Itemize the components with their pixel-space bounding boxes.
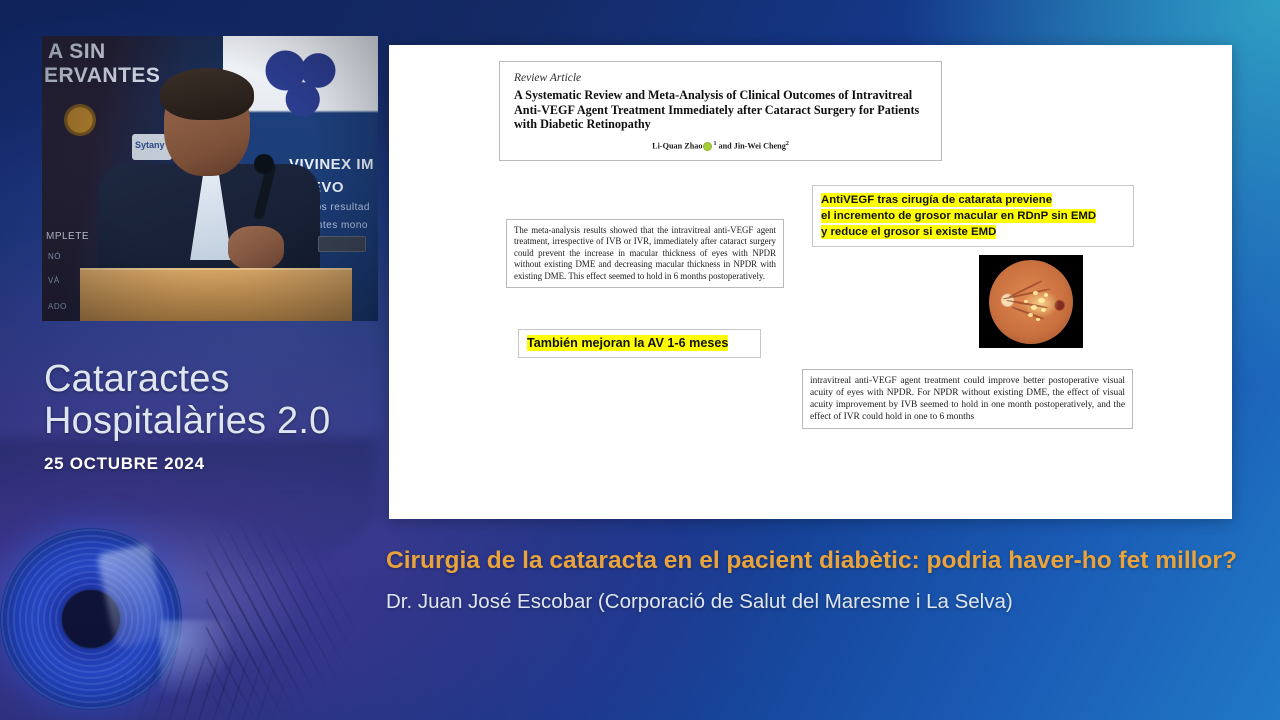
highlight-line-1: AntiVEGF tras cirugía de catarata previe… <box>821 193 1052 207</box>
highlight-box-top: AntiVEGF tras cirugía de catarata previe… <box>812 185 1134 247</box>
hard-exudate <box>1031 305 1037 310</box>
author-1-name: Li-Quan Zhao <box>652 141 702 150</box>
highlight-line-2: el incremento de grosor macular en RDnP … <box>821 209 1096 223</box>
event-title-block: Cataractes Hospitalàries 2.0 25 OCTUBRE … <box>44 358 330 474</box>
article-header-box: Review Article A Systematic Review and M… <box>499 61 942 161</box>
event-title-line1: Cataractes <box>44 358 330 400</box>
hard-exudate <box>1044 293 1048 297</box>
highlight-mid-text: También mejoran la AV 1-6 meses <box>527 335 728 351</box>
hard-exudate <box>1041 308 1046 312</box>
article-title: A Systematic Review and Meta-Analysis of… <box>514 88 927 132</box>
hard-exudate <box>1028 313 1033 317</box>
article-authors: Li-Quan Zhao1 and Jin-Wei Cheng2 <box>500 141 941 151</box>
talk-speaker: Dr. Juan José Escobar (Corporació de Sal… <box>386 589 1248 615</box>
fundus-retina-disc <box>989 260 1073 344</box>
highlight-box-mid: También mejoran la AV 1-6 meses <box>518 329 761 358</box>
talk-caption: Cirurgia de la cataracta en el pacient d… <box>386 544 1248 615</box>
excerpt-left-box: The meta-analysis results showed that th… <box>506 219 784 288</box>
author-2-affiliation: 2 <box>786 141 789 147</box>
eye-lashes-lower <box>118 648 308 720</box>
presentation-slide[interactable]: Review Article A Systematic Review and M… <box>389 45 1232 519</box>
video-vignette <box>42 36 378 321</box>
event-date: 25 OCTUBRE 2024 <box>44 454 330 474</box>
highlight-line-3: y reduce el grosor si existe EMD <box>821 225 996 239</box>
author-2-name: Jin-Wei Cheng <box>734 141 786 150</box>
speaker-video-thumbnail[interactable]: Sytany A SIN ERVANTES VIVINEX IM N NUEVO… <box>42 36 378 321</box>
event-title-line2: Hospitalàries 2.0 <box>44 400 330 442</box>
retinal-vessel <box>1012 306 1044 319</box>
hard-exudate <box>1036 318 1040 321</box>
article-kicker: Review Article <box>514 72 927 84</box>
orcid-icon <box>703 142 712 151</box>
hard-exudate <box>1038 298 1045 303</box>
excerpt-right-box: intravitreal anti-VEGF agent treatment c… <box>802 369 1133 429</box>
fundus-photograph <box>979 255 1083 348</box>
talk-title: Cirurgia de la cataracta en el pacient d… <box>386 544 1248 578</box>
hard-exudate <box>1033 291 1038 295</box>
slide-viewer: Sytany A SIN ERVANTES VIVINEX IM N NUEVO… <box>0 0 1280 720</box>
author-connector: and <box>716 141 733 150</box>
